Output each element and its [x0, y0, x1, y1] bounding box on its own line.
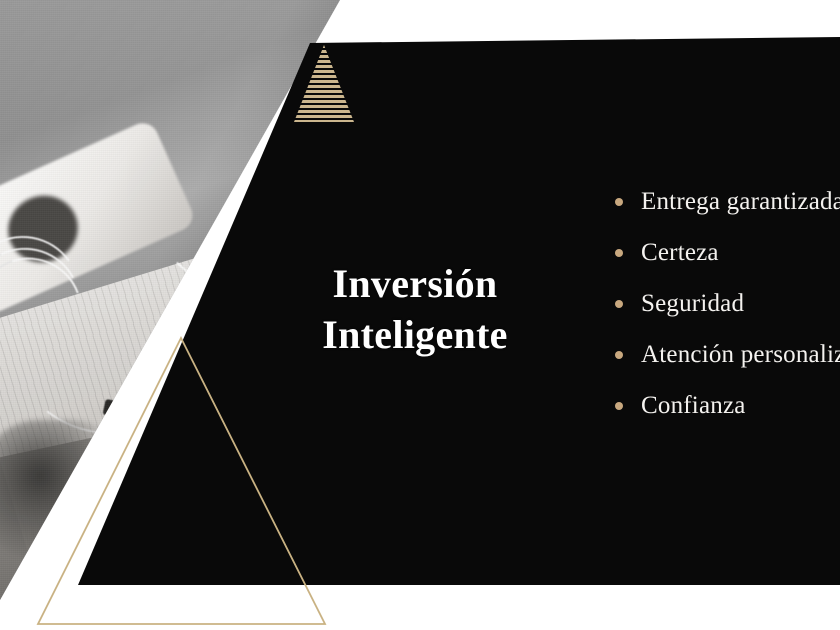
- bullet-dot-icon: [615, 249, 623, 257]
- presentation-slide: Inversión Inteligente Entrega garantizad…: [0, 0, 840, 630]
- title-line-2: Inteligente: [300, 309, 530, 360]
- list-item-label: Entrega garantizada: [641, 189, 840, 214]
- bullet-dot-icon: [615, 351, 623, 359]
- list-item-label: Seguridad: [641, 291, 744, 316]
- list-item: Entrega garantizada: [615, 176, 840, 227]
- list-item-label: Certeza: [641, 240, 719, 265]
- bullet-dot-icon: [615, 300, 623, 308]
- list-item: Certeza: [615, 227, 840, 278]
- list-item: Confianza: [615, 380, 840, 431]
- bullet-dot-icon: [615, 402, 623, 410]
- list-item: Seguridad: [615, 278, 840, 329]
- page-title: Inversión Inteligente: [300, 258, 530, 360]
- outline-triangle-icon: [30, 330, 330, 628]
- bullet-list: Entrega garantizada Certeza Seguridad At…: [615, 176, 840, 431]
- title-line-1: Inversión: [300, 258, 530, 309]
- bullet-dot-icon: [615, 198, 623, 206]
- list-item-label: Atención personalizada: [641, 342, 840, 367]
- list-item: Atención personalizada: [615, 329, 840, 380]
- list-item-label: Confianza: [641, 393, 746, 418]
